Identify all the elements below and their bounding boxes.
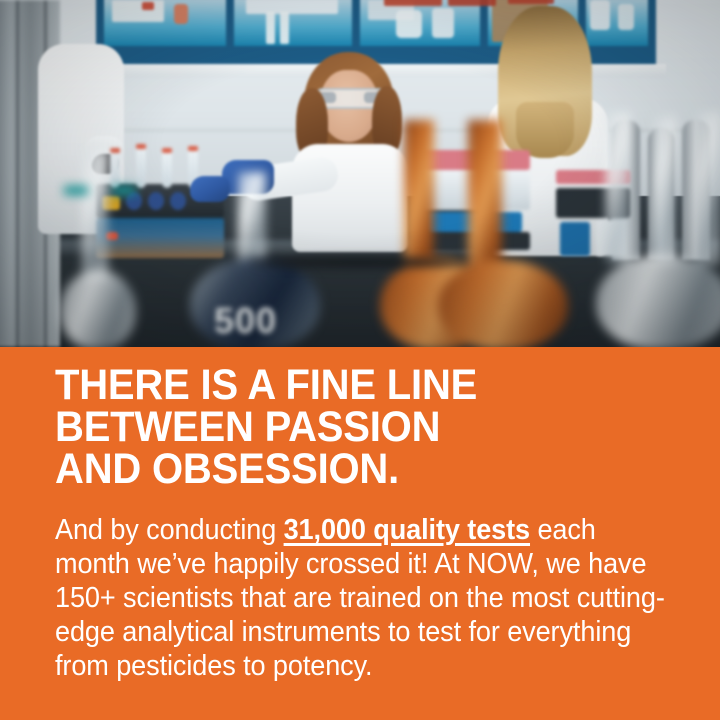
bench-cable <box>250 248 470 288</box>
lab-photo-scene: 500 <box>0 0 720 347</box>
body-text-lead: And by conducting <box>55 514 284 546</box>
lab-photo: 500 <box>0 0 720 347</box>
foreground-glassware-right <box>596 112 720 347</box>
foreground-glassware-amber <box>380 120 590 347</box>
quality-tests-highlight: 31,000 quality tests <box>284 514 530 546</box>
page-title: THERE IS A FINE LINE BETWEEN PASSION AND… <box>55 364 632 490</box>
foreground-glassware-left <box>56 150 142 347</box>
flask-volume-label: 500 <box>214 300 277 342</box>
promo-poster: 500 THERE IS A FINE LINE BETWEEN PASSION <box>0 0 720 720</box>
body-paragraph: And by conducting 31,000 quality tests e… <box>55 513 673 683</box>
